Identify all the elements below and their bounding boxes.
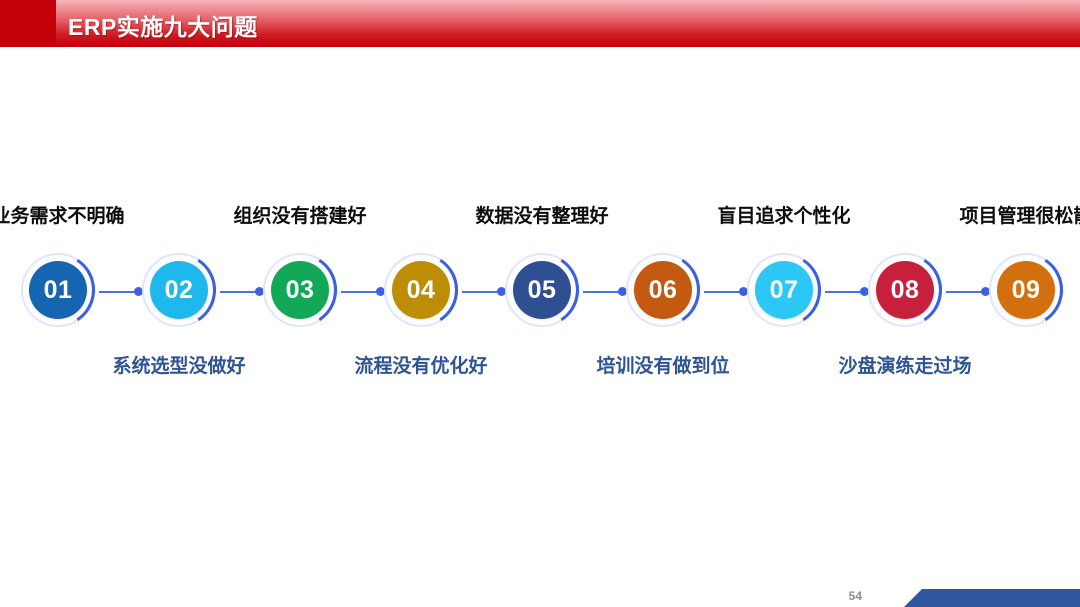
- timeline-node-07[interactable]: 07: [747, 253, 825, 331]
- node-number: 05: [528, 278, 557, 303]
- timeline-label-01: 业务需求不明确: [0, 201, 125, 228]
- timeline-connector-line: [946, 291, 983, 293]
- node-number: 02: [165, 278, 194, 303]
- timeline-connector-line: [583, 291, 620, 293]
- timeline-label-06: 培训没有做到位: [596, 351, 729, 378]
- node-number: 04: [407, 278, 436, 303]
- timeline-connector-line: [704, 291, 741, 293]
- timeline-node-09[interactable]: 09: [989, 253, 1067, 331]
- timeline-connector-line: [462, 291, 499, 293]
- timeline-node-04[interactable]: 04: [384, 253, 462, 331]
- timeline-label-04: 流程没有优化好: [354, 351, 487, 378]
- node-number: 03: [286, 278, 315, 303]
- node-number: 01: [44, 278, 73, 303]
- timeline-node-01[interactable]: 01: [21, 253, 99, 331]
- timeline-node-03[interactable]: 03: [263, 253, 341, 331]
- footer-bar: [880, 583, 1080, 607]
- node-number: 08: [891, 278, 920, 303]
- timeline-label-05: 数据没有整理好: [475, 201, 608, 228]
- timeline-node-05[interactable]: 05: [505, 253, 583, 331]
- timeline-connector-line: [220, 291, 257, 293]
- timeline-label-03: 组织没有搭建好: [233, 201, 366, 228]
- node-disc: 04: [392, 261, 450, 319]
- timeline-label-07: 盲目追求个性化: [717, 201, 850, 228]
- footer-bar-shape: [880, 583, 1080, 607]
- node-disc: 07: [755, 261, 813, 319]
- node-disc: 06: [634, 261, 692, 319]
- process-timeline: 010203040506070809 业务需求不明确系统选型没做好组织没有搭建好…: [0, 0, 1080, 607]
- node-disc: 09: [997, 261, 1055, 319]
- node-disc: 08: [876, 261, 934, 319]
- node-disc: 03: [271, 261, 329, 319]
- timeline-node-02[interactable]: 02: [142, 253, 220, 331]
- timeline-label-08: 沙盘演练走过场: [838, 351, 971, 378]
- page-number: 54: [849, 589, 862, 603]
- node-number: 09: [1012, 278, 1041, 303]
- timeline-connector-line: [99, 291, 136, 293]
- node-disc: 05: [513, 261, 571, 319]
- node-disc: 01: [29, 261, 87, 319]
- timeline-connector-line: [825, 291, 862, 293]
- timeline-label-02: 系统选型没做好: [112, 351, 245, 378]
- timeline-node-08[interactable]: 08: [868, 253, 946, 331]
- timeline-connector-line: [341, 291, 378, 293]
- node-number: 07: [770, 278, 799, 303]
- node-disc: 02: [150, 261, 208, 319]
- timeline-label-09: 项目管理很松散: [959, 201, 1080, 228]
- timeline-node-06[interactable]: 06: [626, 253, 704, 331]
- node-number: 06: [649, 278, 678, 303]
